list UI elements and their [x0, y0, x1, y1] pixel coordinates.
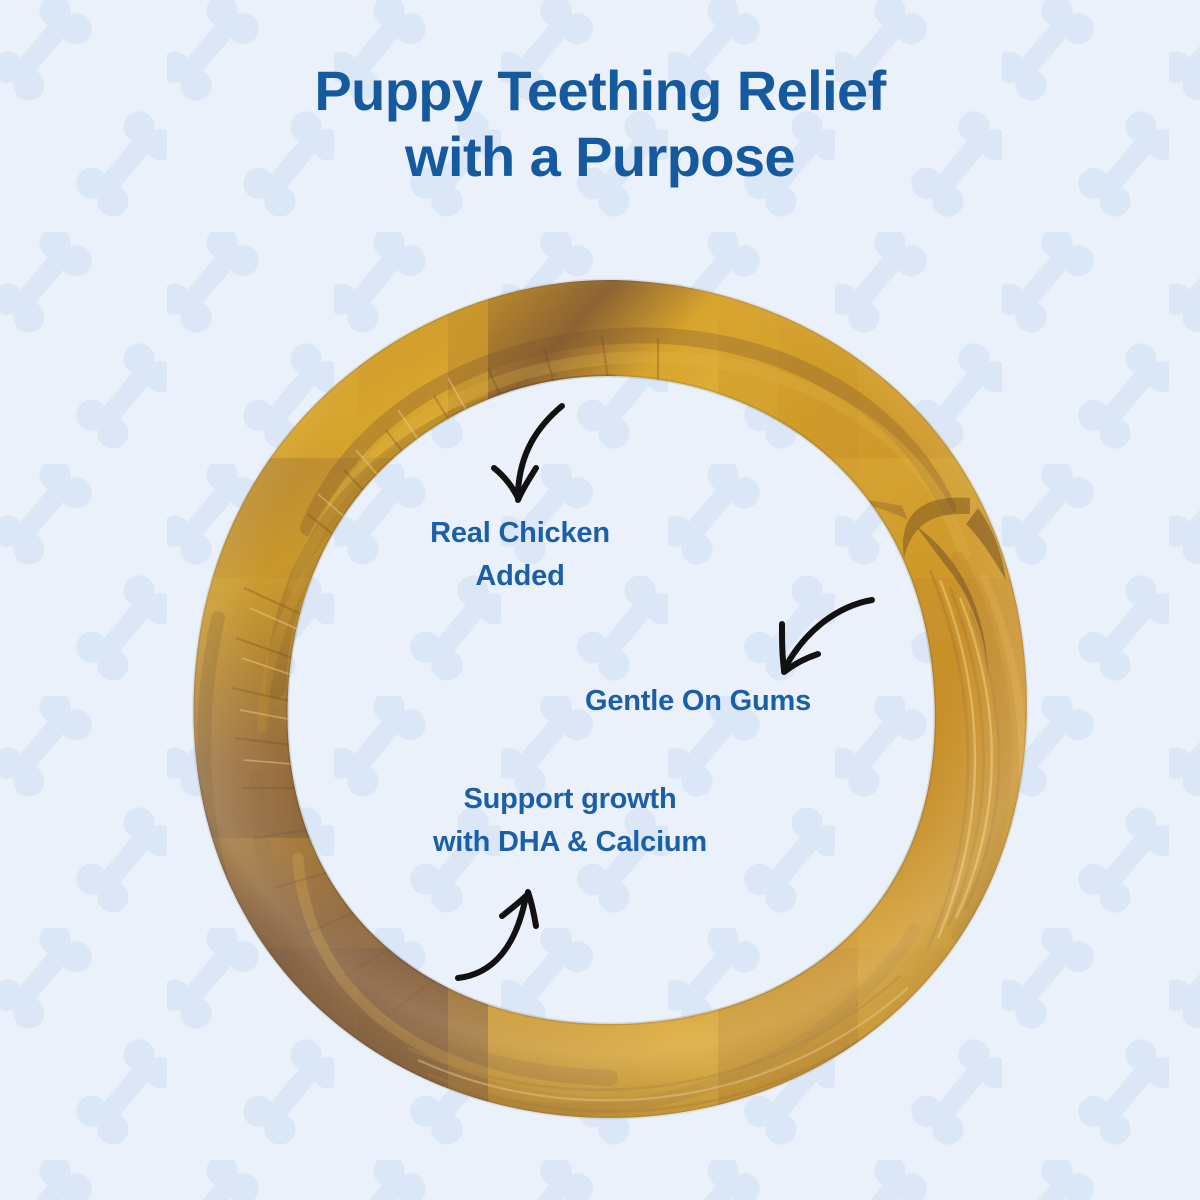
page-title: Puppy Teething Relief with a Purpose: [0, 58, 1200, 190]
promo-graphic-canvas: Puppy Teething Relief with a Purpose: [0, 0, 1200, 1200]
callout-real-chicken-line-1: Real Chicken: [405, 512, 635, 555]
callout-real-chicken-line-2: Added: [405, 555, 635, 598]
callout-support-growth: Support growth with DHA & Calcium: [385, 778, 755, 864]
callout-real-chicken-added: Real Chicken Added: [405, 512, 635, 598]
callout-support-growth-line-2: with DHA & Calcium: [385, 821, 755, 864]
callout-support-growth-line-1: Support growth: [385, 778, 755, 821]
callout-gentle-on-gums: Gentle On Gums: [585, 680, 885, 723]
page-title-line-1: Puppy Teething Relief: [0, 58, 1200, 124]
page-title-line-2: with a Purpose: [0, 124, 1200, 190]
callout-gentle-on-gums-line-1: Gentle On Gums: [585, 680, 885, 723]
